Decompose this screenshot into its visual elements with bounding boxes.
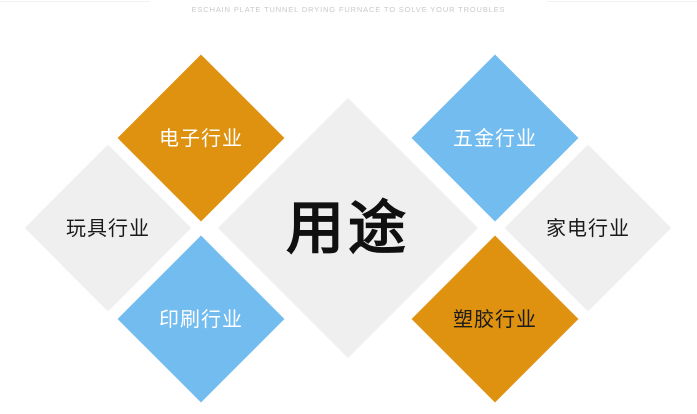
diamond-label-printing: 印刷行业 [159,309,243,329]
diamond-label-electronics: 电子行业 [159,128,243,148]
usage-diamond-diagram: 玩具行业 家电行业 用途 电子行业 五金行业 印刷行业 塑胶行业 [0,0,697,414]
slide-canvas: ESCHAIN PLATE TUNNEL DRYING FURNACE TO S… [0,0,697,414]
diamond-label-appliances: 家电行业 [546,218,630,238]
diamond-label-toys: 玩具行业 [66,218,150,238]
diamond-label-plastics: 塑胶行业 [453,309,537,329]
diamond-label-hardware: 五金行业 [453,128,537,148]
diamond-label-usage: 用途 [286,199,410,257]
